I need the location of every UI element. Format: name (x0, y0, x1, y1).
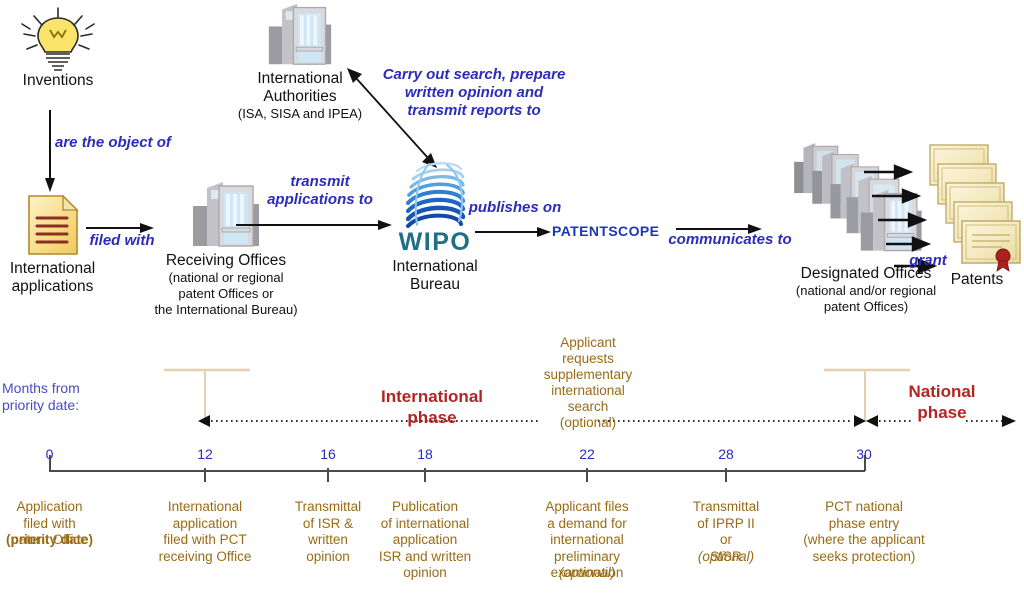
milestone-label-tail: (priority date) (0, 532, 99, 549)
connector-publishes-on: publishes on (455, 199, 575, 217)
milestone-tick (327, 468, 329, 482)
international-bureau-label: International Bureau (355, 258, 515, 294)
milestone-28: 28 Transmittal of IPRP II or SISR (optio… (666, 446, 786, 565)
arrow-inventions-to-applications (40, 110, 70, 196)
milestone-tick (424, 468, 426, 482)
milestone-label: Publication of international application… (362, 499, 488, 582)
document-icon (23, 192, 83, 258)
milestone-18: 18 Publication of international applicat… (362, 446, 488, 582)
supplementary-search-note: Applicant requests supplementary interna… (528, 335, 648, 431)
office-building-icon (263, 0, 337, 68)
milestone-month-number: 0 (0, 446, 99, 462)
milestone-12: 12 International application filed with … (146, 446, 264, 565)
milestone-label-tail: (optional) (666, 549, 786, 566)
milestone-month-number: 12 (146, 446, 264, 462)
milestone-0: 0 Application filed with patent Office (… (0, 446, 99, 549)
international-phase-label: International phase (355, 386, 509, 428)
milestone-month-number: 30 (772, 446, 956, 462)
milestone-month-number: 28 (666, 446, 786, 462)
patents-node: Patents (930, 145, 1024, 289)
patents-label: Patents (930, 271, 1024, 289)
timeline-axis-caption: Months from priority date: (2, 380, 132, 414)
milestone-30: 30 PCT national phase entry (where the a… (772, 446, 956, 565)
international-applications-label: International applications (0, 260, 105, 296)
milestone-label: International application filed with PCT… (146, 499, 264, 565)
milestone-22: 22 Applicant files a demand for internat… (524, 446, 650, 582)
certificates-icon (930, 145, 1024, 273)
milestone-label: PCT national phase entry (where the appl… (772, 499, 956, 565)
connector-are-the-object-of: are the object of (55, 134, 205, 152)
receiving-offices-label: Receiving Offices (126, 252, 326, 270)
receiving-offices-sublabel: (national or regional patent Offices or … (126, 270, 326, 318)
milestone-tick (204, 468, 206, 482)
arrow-bureau-to-patentscope (475, 222, 555, 242)
milestone-month-number: 18 (362, 446, 488, 462)
inventions-node: Inventions (8, 6, 108, 90)
lightbulb-icon (8, 6, 108, 72)
connector-carry-out-search: Carry out search, prepare written opinio… (362, 66, 586, 120)
milestone-month-number: 22 (524, 446, 650, 462)
inventions-label: Inventions (8, 72, 108, 90)
milestone-tick (725, 468, 727, 482)
national-phase-label: National phase (882, 381, 1002, 423)
milestone-tick (586, 468, 588, 482)
milestone-label-tail: (optional) (524, 565, 650, 582)
wipo-wordmark: WIPO (399, 228, 472, 256)
